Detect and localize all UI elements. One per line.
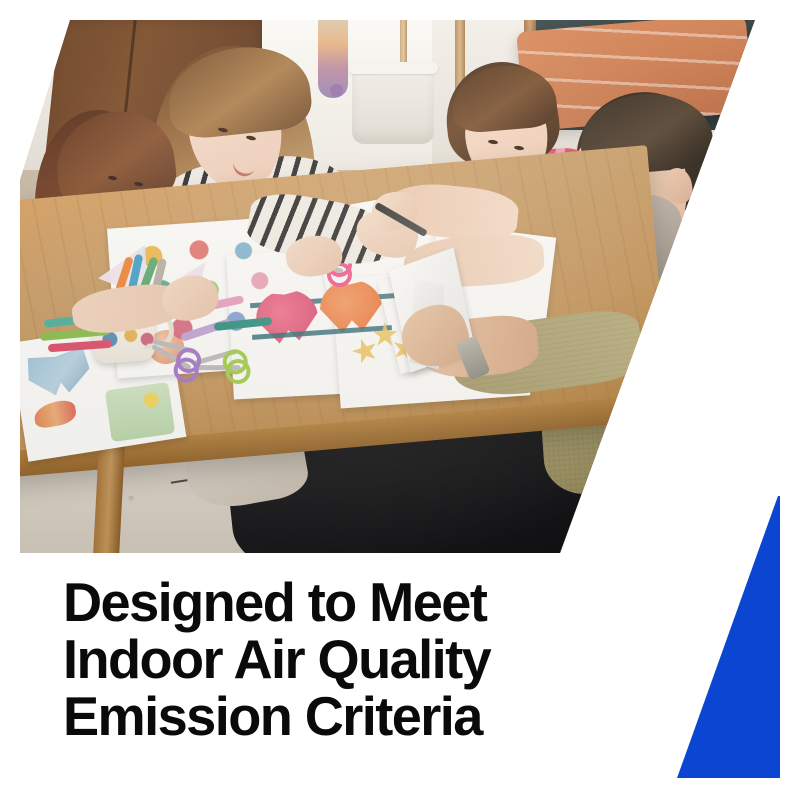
hero-photo	[0, 0, 800, 600]
hanging-toy-bead	[330, 84, 343, 97]
blue-parallelogram-accent	[660, 496, 780, 778]
laundry-basket	[352, 66, 434, 144]
watercolour-flower-drawing	[105, 382, 176, 442]
headline-line-3: Emission Criteria	[63, 688, 615, 745]
headline-line-1: Designed to Meet	[63, 574, 615, 631]
headline-line-2: Indoor Air Quality	[63, 631, 615, 688]
headline-block: Designed to Meet Indoor Air Quality Emis…	[63, 574, 623, 745]
rug-pattern-line	[622, 383, 769, 419]
poster-canvas: Designed to Meet Indoor Air Quality Emis…	[0, 0, 800, 800]
photo-scene	[0, 0, 800, 600]
laundry-basket-rim	[348, 62, 438, 74]
